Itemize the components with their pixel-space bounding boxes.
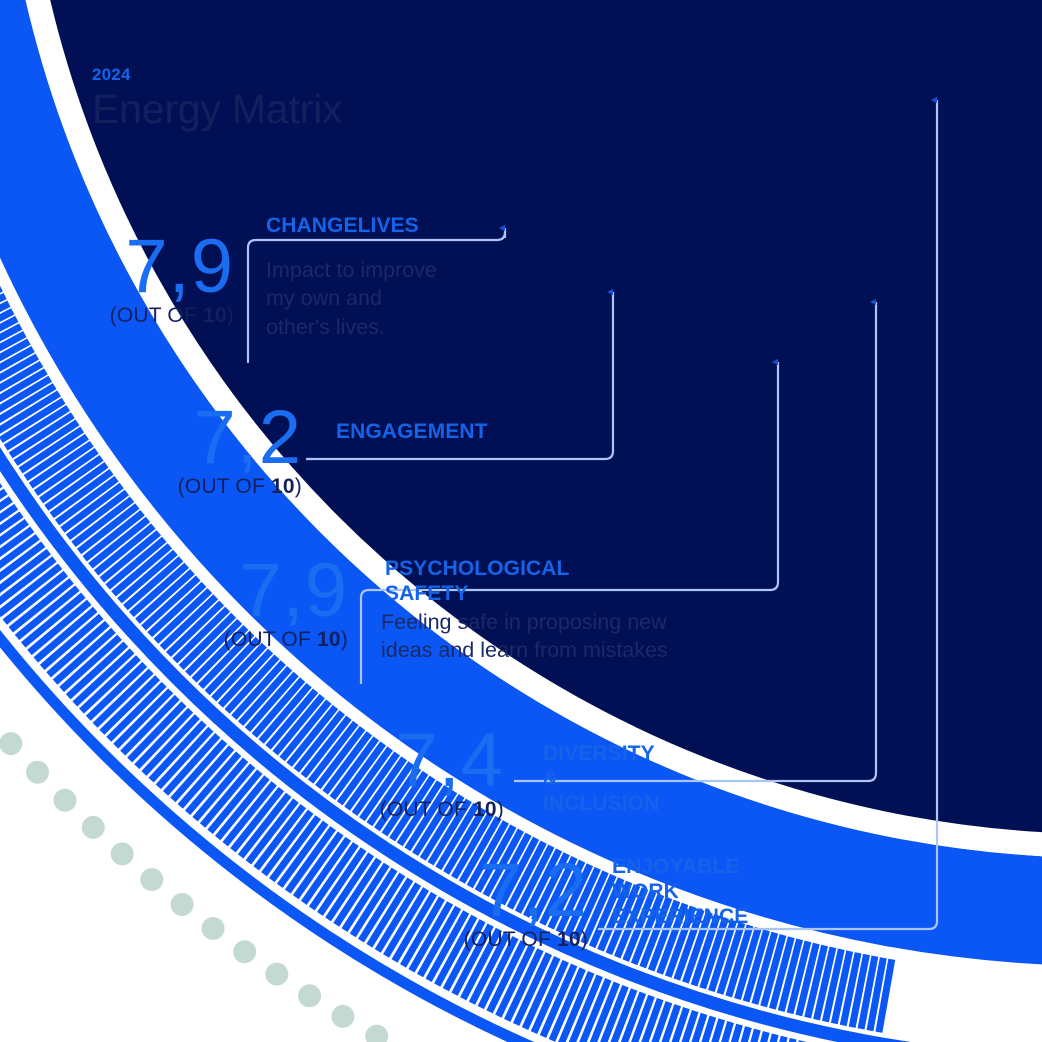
scale-max: 10: [473, 798, 497, 821]
score-block-changelives: 7,9 (OUT OF 10): [54, 232, 234, 328]
metric-label-engagement: ENGAGEMENT: [336, 419, 488, 444]
score-scale-engagement: (OUT OF 10): [122, 475, 302, 499]
scale-max: 10: [203, 304, 227, 327]
metric-label-enjoyable-work-experience: ENJOYABLE WORK EXPERIENCE: [612, 854, 748, 930]
metric-label-changelives: CHANGELIVES: [266, 213, 419, 238]
scale-prefix: (OUT OF: [380, 798, 473, 821]
metric-label-psychological-safety: PSYCHOLOGICAL SAFETY: [385, 556, 569, 606]
metric-description-changelives: Impact to improve my own and other's liv…: [266, 256, 526, 341]
score-scale-psychological-safety: (OUT OF 10): [168, 628, 348, 652]
score-block-psychological-safety: 7,9 (OUT OF 10): [168, 556, 348, 652]
score-scale-enjoyable-work-experience: (OUT OF 10): [408, 928, 588, 952]
score-scale-changelives: (OUT OF 10): [54, 304, 234, 328]
score-block-enjoyable-work-experience: 7,2 (OUT OF 10): [408, 856, 588, 952]
metric-label-diversity-inclusion: DIVERSITY & INCLUSION: [543, 741, 659, 817]
year-label: 2024: [92, 66, 342, 83]
scale-max: 10: [271, 475, 295, 498]
score-block-diversity-inclusion: 7,4 (OUT OF 10): [324, 726, 504, 822]
score-value-diversity-inclusion: 7,4: [324, 726, 504, 796]
score-block-engagement: 7,2 (OUT OF 10): [122, 403, 302, 499]
scale-prefix: (OUT OF: [110, 304, 203, 327]
score-value-psychological-safety: 7,9: [168, 556, 348, 626]
connector-diversity-inclusion: [514, 302, 876, 781]
header: 2024 Energy Matrix: [92, 66, 342, 132]
scale-suffix: ): [341, 628, 348, 651]
score-value-changelives: 7,9: [54, 232, 234, 302]
scale-suffix: ): [497, 798, 504, 821]
scale-prefix: (OUT OF: [464, 928, 557, 951]
scale-suffix: ): [227, 304, 234, 327]
score-value-enjoyable-work-experience: 7,2: [408, 856, 588, 926]
scale-prefix: (OUT OF: [178, 475, 271, 498]
scale-max: 10: [557, 928, 581, 951]
page-title: Energy Matrix: [92, 87, 342, 132]
score-scale-diversity-inclusion: (OUT OF 10): [324, 798, 504, 822]
scale-max: 10: [317, 628, 341, 651]
score-value-engagement: 7,2: [122, 403, 302, 473]
scale-suffix: ): [295, 475, 302, 498]
metric-description-psychological-safety: Feeling safe in proposing new ideas and …: [381, 608, 781, 665]
scale-prefix: (OUT OF: [224, 628, 317, 651]
infographic-page: 2024 Energy Matrix 7,9 (OUT OF 10) CHANG…: [0, 0, 1042, 1042]
scale-suffix: ): [581, 928, 588, 951]
